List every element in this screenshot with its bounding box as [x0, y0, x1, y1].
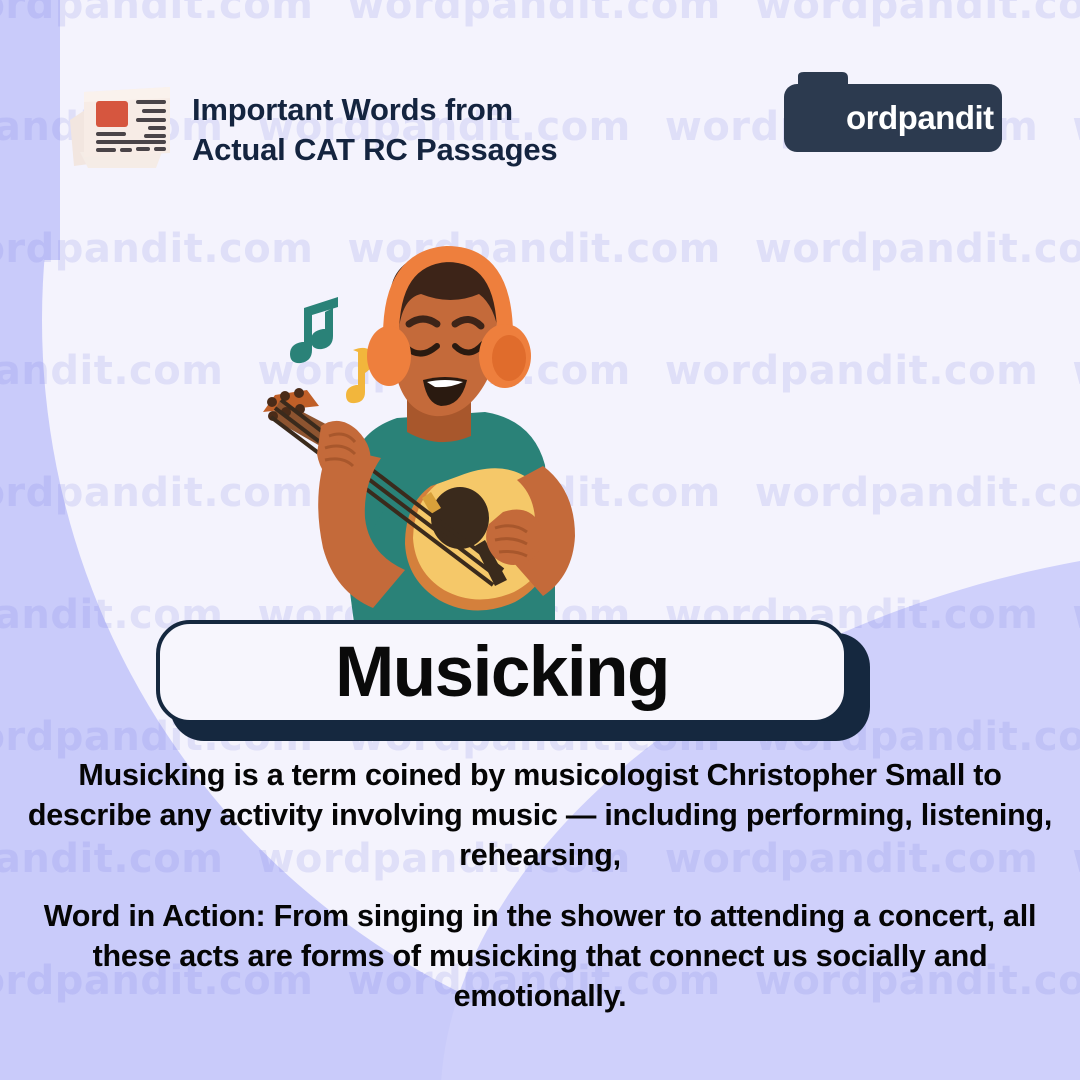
word-in-action-text: Word in Action: From singing in the show…	[0, 897, 1080, 1017]
word-card-body: Musicking	[156, 620, 848, 724]
header: Important Words from Actual CAT RC Passa…	[0, 0, 1080, 190]
word-card: Musicking	[156, 620, 856, 730]
definition-section: Musicking is a term coined by musicologi…	[0, 756, 1080, 1017]
vocabulary-word: Musicking	[335, 637, 669, 708]
page-title-line-2: Actual CAT RC Passages	[192, 130, 557, 170]
bookmark-w-icon	[794, 72, 850, 134]
newspaper-icon	[58, 68, 176, 172]
definition-text: Musicking is a term coined by musicologi…	[0, 756, 1080, 876]
wordpandit-logo[interactable]: ordpandit	[784, 84, 1002, 152]
page-title: Important Words from Actual CAT RC Passa…	[192, 90, 557, 169]
music-note-teal-shape	[290, 297, 338, 363]
logo-text: ordpandit	[846, 99, 994, 137]
page-title-line-1: Important Words from	[192, 90, 557, 130]
illustration-man-playing-guitar	[255, 240, 655, 630]
